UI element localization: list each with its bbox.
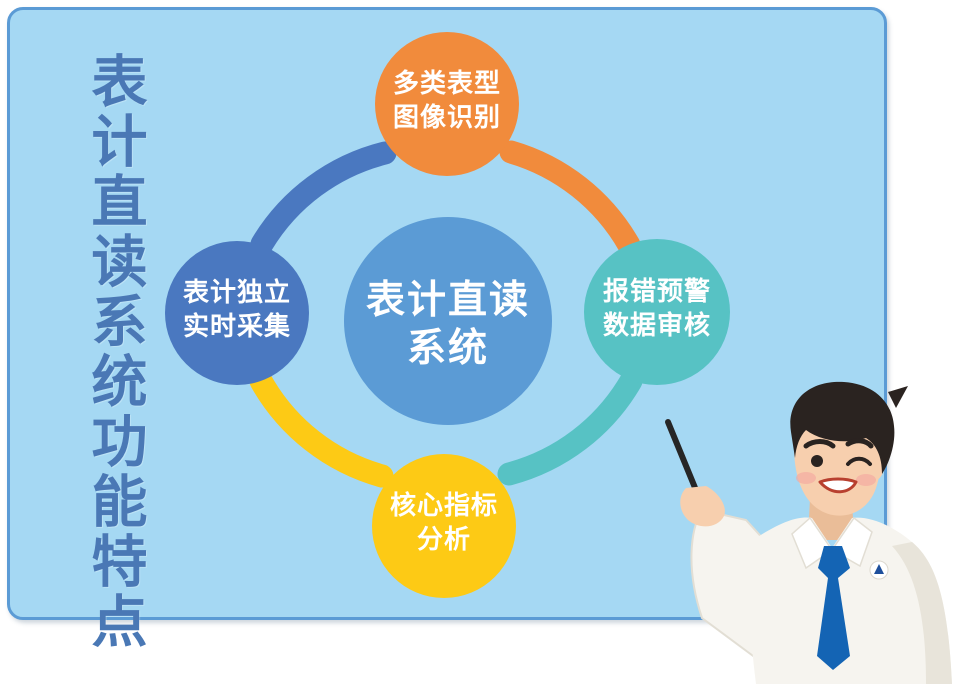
node-top[interactable]: 多类表型 图像识别 [375, 32, 519, 176]
node-bottom[interactable]: 核心指标 分析 [372, 454, 516, 598]
node-center[interactable]: 表计直读 系统 [344, 217, 552, 425]
page-title: 表计直读系统功能特点 [58, 52, 144, 582]
presenter-illustration [660, 370, 968, 684]
node-right[interactable]: 报错预警 数据审核 [584, 239, 730, 385]
node-top-circle[interactable] [375, 32, 519, 176]
node-center-circle[interactable] [344, 217, 552, 425]
node-left-circle[interactable] [165, 241, 309, 385]
node-bottom-circle[interactable] [372, 454, 516, 598]
infographic-canvas: 表计直读系统功能特点 表计直读 系统 多类表型 图像识别 报错预警 数据审核 [0, 0, 968, 684]
blush-right [856, 474, 876, 486]
node-left[interactable]: 表计独立 实时采集 [165, 241, 309, 385]
node-right-circle[interactable] [584, 239, 730, 385]
hand [680, 486, 725, 526]
hair-tuft-icon [888, 386, 908, 408]
eye-open [811, 455, 823, 467]
pointer-stick-icon [668, 422, 698, 495]
blush-left [796, 472, 816, 484]
